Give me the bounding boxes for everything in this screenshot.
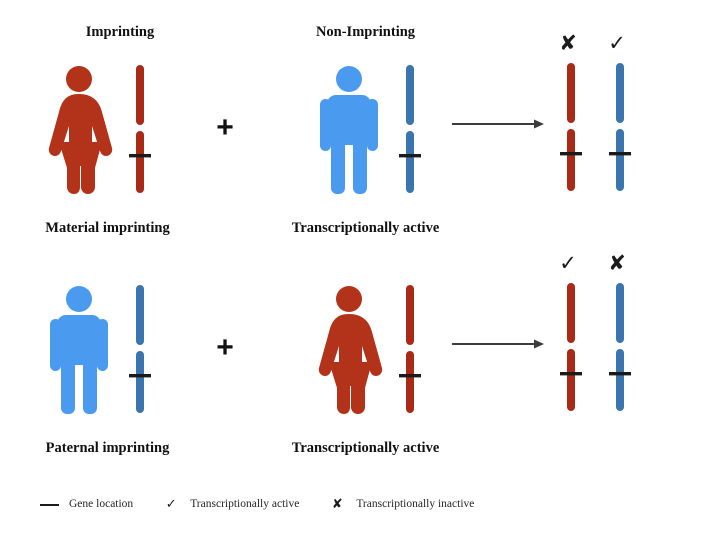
offspring-group-paternal: ✓ ✘ (550, 253, 662, 428)
gene-location-line-icon (560, 372, 582, 375)
offspring-chromosome-blue (603, 61, 637, 193)
gene-location-line-icon (129, 374, 151, 377)
female-figure-icon (315, 283, 383, 415)
gene-location-line-icon (609, 152, 631, 155)
row-maternal-imprinting: + ✘ ✓ (0, 55, 720, 245)
parent-group-maternal-left (45, 55, 170, 205)
chromosome-maternal-red (123, 63, 157, 195)
legend-label-inactive: Transcriptionally inactive (356, 498, 474, 510)
offspring-mark-blue: ✓ (602, 33, 632, 55)
plus-operator-bottom: + (205, 333, 245, 363)
legend-item-active: ✓ Transcriptionally active (159, 496, 299, 512)
offspring-chromosome-blue (603, 281, 637, 413)
parent-group-paternal-right (315, 275, 440, 425)
male-figure-icon (45, 283, 113, 415)
parent-group-paternal-left (45, 275, 170, 425)
male-figure-icon (315, 63, 383, 195)
female-figure-icon (45, 63, 113, 195)
column-header-non-imprinting: Non-Imprinting (258, 24, 473, 41)
column-header-imprinting: Imprinting (30, 24, 210, 41)
caption-paternal-right: Transcriptionally active (258, 440, 473, 457)
offspring-group-maternal: ✘ ✓ (550, 33, 662, 208)
right-arrow-icon (452, 337, 544, 351)
legend-item-inactive: ✘ Transcriptionally inactive (325, 496, 474, 512)
chromosome-paternal-blue (393, 63, 427, 195)
offspring-chromosome-red (554, 281, 588, 413)
gene-location-line-icon (560, 152, 582, 155)
gene-location-line-icon (38, 498, 62, 510)
plus-operator-top: + (205, 113, 245, 143)
caption-maternal-right: Transcriptionally active (258, 220, 473, 237)
parent-group-maternal-right (315, 55, 440, 205)
chromosome-paternal-blue (123, 283, 157, 415)
legend-label-gene-location: Gene location (69, 498, 133, 510)
offspring-chromosome-red (554, 61, 588, 193)
legend: Gene location ✓ Transcriptionally active… (38, 492, 678, 516)
offspring-mark-red: ✓ (553, 253, 583, 275)
gene-location-line-icon (129, 154, 151, 157)
chromosome-maternal-red (393, 283, 427, 415)
legend-item-gene-location: Gene location (38, 498, 133, 510)
cross-icon: ✘ (325, 496, 349, 512)
check-icon: ✓ (159, 496, 183, 512)
row-paternal-imprinting: + ✓ ✘ (0, 275, 720, 465)
right-arrow-icon (452, 117, 544, 131)
offspring-mark-blue: ✘ (602, 253, 632, 275)
gene-location-line-icon (399, 154, 421, 157)
gene-location-line-icon (609, 372, 631, 375)
caption-maternal-imprinting: Material imprinting (10, 220, 205, 237)
gene-location-line-icon (399, 374, 421, 377)
caption-paternal-imprinting: Paternal imprinting (10, 440, 205, 457)
legend-label-active: Transcriptionally active (190, 498, 299, 510)
offspring-mark-red: ✘ (553, 33, 583, 55)
